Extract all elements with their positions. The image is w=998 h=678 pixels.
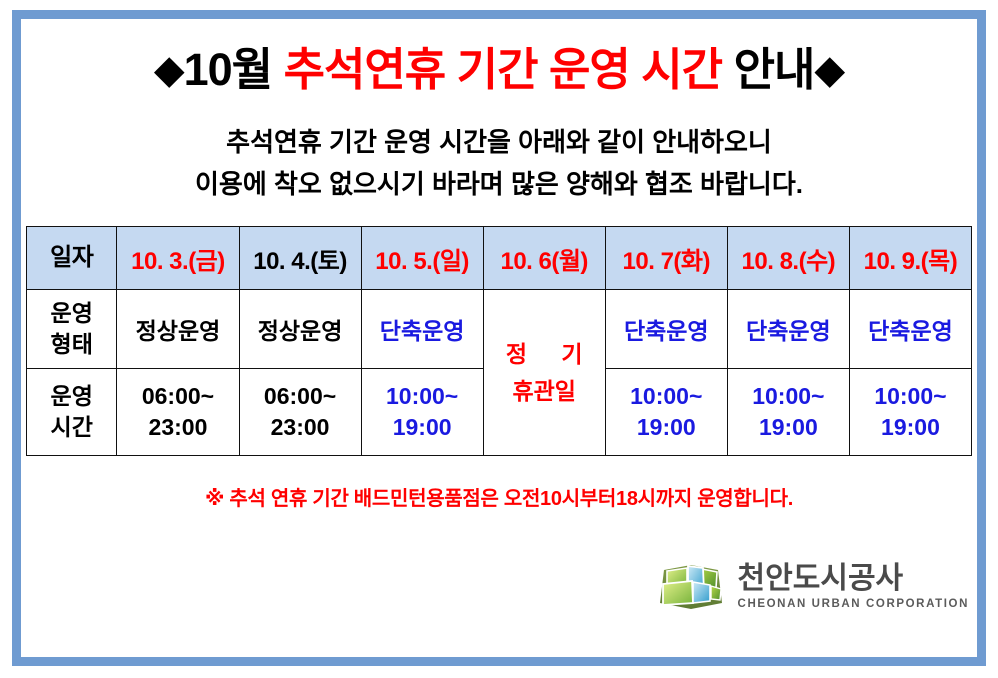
title-highlight: 추석연휴 기간 운영 시간 — [284, 44, 734, 95]
hours-10-3-line1: 06:00~ — [117, 381, 238, 412]
header-label-date: 일자 — [27, 227, 117, 290]
row-label-operating-hours: 운영 시간 — [27, 369, 117, 456]
hours-10-9-line2: 19:00 — [850, 412, 971, 443]
header-date-10-8: 10. 8.(수) — [727, 227, 849, 290]
hours-10-4: 06:00~ 23:00 — [239, 369, 361, 456]
hours-10-3: 06:00~ 23:00 — [117, 369, 239, 456]
hours-10-7-line2: 19:00 — [606, 412, 727, 443]
footnote-text: ※ 추석 연휴 기간 배드민턴용품점은 오전10시부터18시까지 운영합니다. — [21, 482, 977, 511]
subtitle-line-1: 추석연휴 기간 운영 시간을 아래와 같이 안내하오니 — [21, 121, 977, 164]
title-month: 10월 — [184, 44, 284, 95]
hours-10-8-line2: 19:00 — [728, 412, 849, 443]
hours-10-4-line1: 06:00~ — [240, 381, 361, 412]
title-suffix: 안내 — [734, 44, 815, 95]
diamond-left-icon: ◆ — [154, 48, 184, 92]
row-label-operation-type-line2: 형태 — [27, 329, 116, 360]
type-10-7: 단축운영 — [605, 290, 727, 369]
subtitle-line-2: 이용에 착오 없으시기 바라며 많은 양해와 협조 바랍니다. — [21, 163, 977, 206]
hours-10-7-line1: 10:00~ — [606, 381, 727, 412]
header-date-10-3: 10. 3.(금) — [117, 227, 239, 290]
type-10-5: 단축운영 — [361, 290, 483, 369]
row-label-operation-type: 운영 형태 — [27, 290, 117, 369]
hours-10-8: 10:00~ 19:00 — [727, 369, 849, 456]
type-10-8: 단축운영 — [727, 290, 849, 369]
type-10-9: 단축운영 — [849, 290, 971, 369]
page-title: ◆10월 추석연휴 기간 운영 시간 안내◆ — [21, 45, 977, 95]
row-label-operation-type-line1: 운영 — [27, 298, 116, 329]
row-label-operating-hours-line1: 운영 — [27, 381, 116, 412]
closed-day-10-6: 정 기 휴관일 — [483, 290, 605, 456]
table-row-dates: 일자 10. 3.(금) 10. 4.(토) 10. 5.(일) 10. 6(월… — [27, 227, 972, 290]
hours-10-9: 10:00~ 19:00 — [849, 369, 971, 456]
hours-10-8-line1: 10:00~ — [728, 381, 849, 412]
corporate-logo: 천안도시공사 CHEONAN URBAN CORPORATION — [654, 559, 969, 615]
notice-poster: ◆10월 추석연휴 기간 운영 시간 안내◆ 추석연휴 기간 운영 시간을 아래… — [0, 0, 998, 678]
header-date-10-9: 10. 9.(목) — [849, 227, 971, 290]
hours-10-7: 10:00~ 19:00 — [605, 369, 727, 456]
logo-name-korean: 천안도시공사 — [738, 564, 904, 594]
subtitle-block: 추석연휴 기간 운영 시간을 아래와 같이 안내하오니 이용에 착오 없으시기 … — [21, 121, 977, 207]
header-date-10-7: 10. 7(화) — [605, 227, 727, 290]
diamond-right-icon: ◆ — [814, 48, 844, 92]
schedule-table-wrap: 일자 10. 3.(금) 10. 4.(토) 10. 5.(일) 10. 6(월… — [21, 226, 977, 456]
hours-10-3-line2: 23:00 — [117, 412, 238, 443]
logo-name-english: CHEONAN URBAN CORPORATION — [738, 599, 969, 611]
closed-day-line1: 정 기 — [484, 336, 605, 373]
schedule-table: 일자 10. 3.(금) 10. 4.(토) 10. 5.(일) 10. 6(월… — [26, 226, 972, 456]
type-10-3: 정상운영 — [117, 290, 239, 369]
header-date-10-4: 10. 4.(토) — [239, 227, 361, 290]
logo-text-block: 천안도시공사 CHEONAN URBAN CORPORATION — [738, 564, 969, 611]
row-label-operating-hours-line2: 시간 — [27, 412, 116, 443]
hours-10-5-line1: 10:00~ — [362, 381, 483, 412]
hours-10-4-line2: 23:00 — [240, 412, 361, 443]
hours-10-9-line1: 10:00~ — [850, 381, 971, 412]
hours-10-5: 10:00~ 19:00 — [361, 369, 483, 456]
closed-day-line2: 휴관일 — [484, 373, 605, 410]
header-date-10-6: 10. 6(월) — [483, 227, 605, 290]
content-area: ◆10월 추석연휴 기간 운영 시간 안내◆ 추석연휴 기간 운영 시간을 아래… — [21, 19, 977, 657]
table-row-operation-type: 운영 형태 정상운영 정상운영 단축운영 정 기 휴관일 단축운영 단축운영 단… — [27, 290, 972, 369]
type-10-4: 정상운영 — [239, 290, 361, 369]
hours-10-5-line2: 19:00 — [362, 412, 483, 443]
header-date-10-5: 10. 5.(일) — [361, 227, 483, 290]
building-panels-icon — [654, 559, 728, 615]
